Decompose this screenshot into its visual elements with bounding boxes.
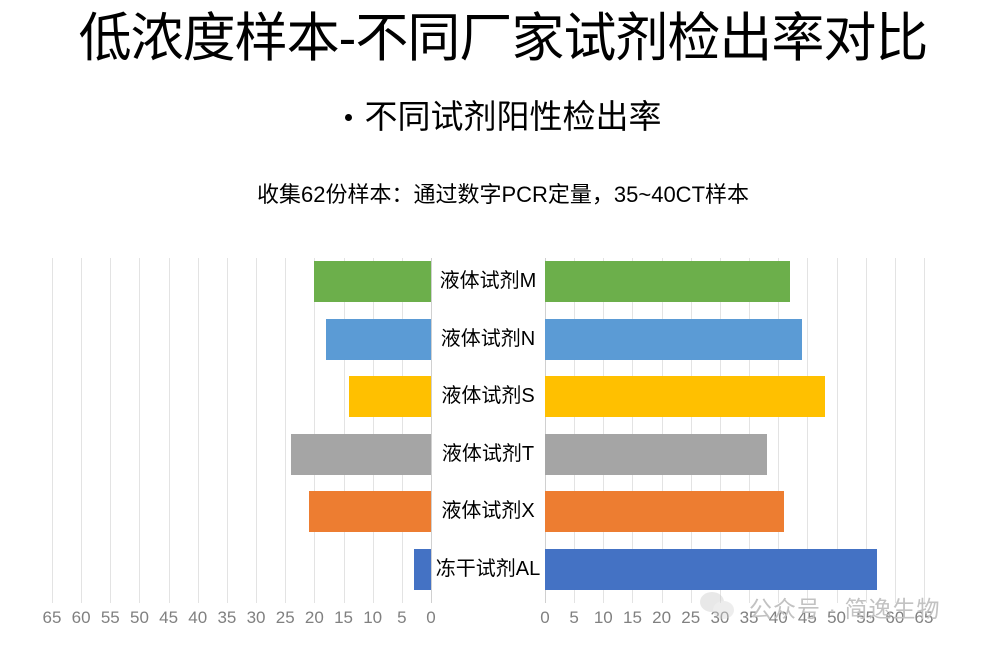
category-label: 液体试剂T xyxy=(431,434,545,475)
bar-right[interactable] xyxy=(545,261,790,302)
sample-note: 收集62份样本：通过数字PCR定量，35~40CT样本 xyxy=(0,180,1006,210)
bar-left[interactable] xyxy=(326,319,431,360)
bar-right[interactable] xyxy=(545,491,784,532)
bar-row-right xyxy=(545,261,924,302)
bar-row-right xyxy=(545,376,924,417)
category-label-column: 液体试剂M液体试剂N液体试剂S液体试剂T液体试剂X冻干试剂AL xyxy=(431,258,545,603)
x-axis-ticks-right: 05101520253035404550556065 xyxy=(545,606,924,636)
page-title: 低浓度样本-不同厂家试剂检出率对比 xyxy=(0,8,1006,70)
bar-row-left xyxy=(52,491,431,532)
category-label: 液体试剂N xyxy=(431,319,545,360)
bullet-heading-text: 不同试剂阳性检出率 xyxy=(365,98,662,135)
bar-row-left xyxy=(52,376,431,417)
category-label: 液体试剂X xyxy=(431,491,545,532)
x-tick-label: 65 xyxy=(904,606,944,630)
bar-row-left xyxy=(52,549,431,590)
bar-left[interactable] xyxy=(291,434,431,475)
slide-root: 低浓度样本-不同厂家试剂检出率对比 不同试剂阳性检出率 收集62份样本：通过数字… xyxy=(0,0,1006,646)
x-axis-ticks-left: 65605550454035302520151050 xyxy=(52,606,431,636)
bullet-dot-icon xyxy=(345,114,352,121)
detection-rate-chart: 液体试剂M液体试剂N液体试剂S液体试剂T液体试剂X冻干试剂AL 65605550… xyxy=(0,248,1006,646)
bar-row-right xyxy=(545,434,924,475)
chart-panel-left xyxy=(52,258,431,603)
bar-left[interactable] xyxy=(314,261,431,302)
gridline xyxy=(924,258,925,603)
category-label: 液体试剂S xyxy=(431,376,545,417)
bar-left[interactable] xyxy=(309,491,431,532)
bar-right[interactable] xyxy=(545,376,825,417)
category-label: 液体试剂M xyxy=(431,261,545,302)
chart-plot-area: 液体试剂M液体试剂N液体试剂S液体试剂T液体试剂X冻干试剂AL xyxy=(0,248,1006,603)
bar-row-left xyxy=(52,319,431,360)
bar-left[interactable] xyxy=(349,376,431,417)
category-label: 冻干试剂AL xyxy=(431,549,545,590)
bullet-heading: 不同试剂阳性检出率 xyxy=(0,96,1006,138)
bar-right[interactable] xyxy=(545,434,767,475)
bar-left[interactable] xyxy=(414,549,431,590)
chart-panel-right xyxy=(545,258,924,603)
bar-right[interactable] xyxy=(545,549,877,590)
bar-row-right xyxy=(545,549,924,590)
x-tick-label: 0 xyxy=(411,606,451,630)
bar-row-left xyxy=(52,434,431,475)
bar-row-right xyxy=(545,319,924,360)
bar-row-left xyxy=(52,261,431,302)
bar-right[interactable] xyxy=(545,319,802,360)
bar-row-right xyxy=(545,491,924,532)
